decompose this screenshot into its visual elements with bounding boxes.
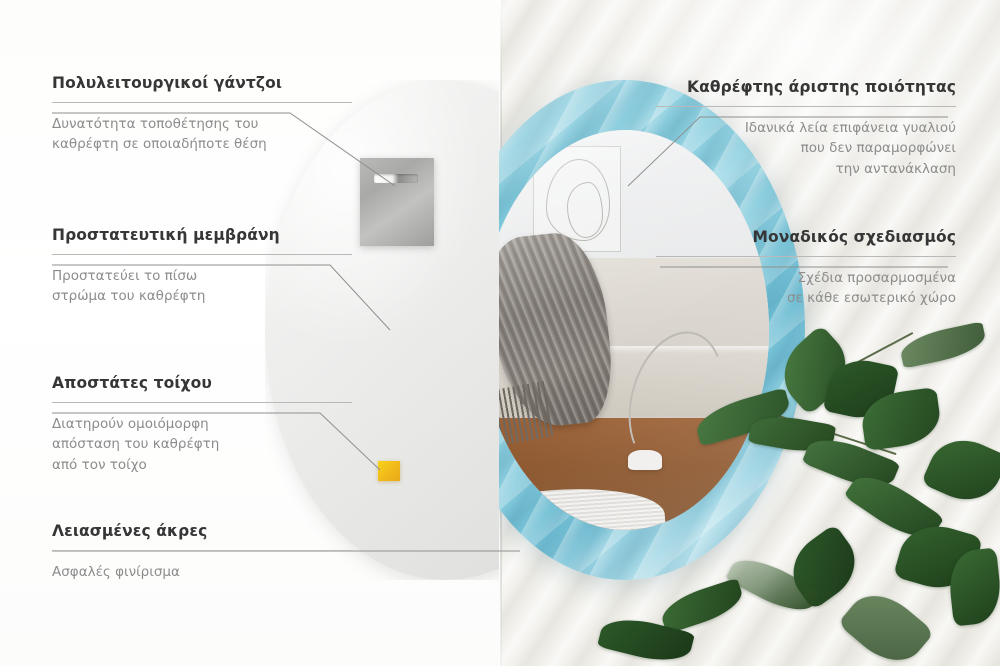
hook-keyhole-slot <box>374 174 418 183</box>
leaf <box>921 428 1000 511</box>
callout-title: Πολυλειτουργικοί γάντζοι <box>52 74 352 93</box>
callout-title: Προστατευτική μεμβράνη <box>52 226 352 245</box>
leaf <box>898 321 988 368</box>
callout-body: Δυνατότητα τοποθέτησης του καθρέφτη σε ο… <box>52 114 352 155</box>
hanging-hook-plate <box>360 158 434 246</box>
callout-body: Σχέδια προσαρμοσμένα σε κάθε εσωτερικό χ… <box>656 268 956 309</box>
callout-title: Αποστάτες τοίχου <box>52 374 352 393</box>
callout-body: Προστατεύει το πίσω στρώμα του καθρέφτη <box>52 266 352 307</box>
callout-unique-design: Μοναδικός σχεδιασμός Σχέδια προσαρμοσμέν… <box>656 228 956 309</box>
callout-rule <box>52 254 352 255</box>
wall-spacer-chip <box>378 461 400 481</box>
infographic-canvas: Πολυλειτουργικοί γάντζοι Δυνατότητα τοπο… <box>0 0 1000 666</box>
callout-smoothed-edges: Λειασμένες άκρες Ασφαλές φινίρισμα <box>52 522 352 582</box>
callout-body: Ασφαλές φινίρισμα <box>52 562 352 583</box>
callout-title: Λειασμένες άκρες <box>52 522 352 541</box>
callout-rule <box>52 102 352 103</box>
callout-rule <box>656 106 956 107</box>
callout-multifunctional-hooks: Πολυλειτουργικοί γάντζοι Δυνατότητα τοπο… <box>52 74 352 155</box>
callout-top-quality-mirror: Καθρέφτης άριστης ποιότητας Ιδανικά λεία… <box>656 78 956 179</box>
leaf <box>657 578 747 634</box>
callout-body: Διατηρούν ομοιόμορφη απόσταση του καθρέφ… <box>52 414 352 476</box>
callout-protective-membrane: Προστατευτική μεμβράνη Προστατεύει το πί… <box>52 226 352 307</box>
callout-rule <box>656 256 956 257</box>
leaf <box>837 581 934 666</box>
callout-rule <box>52 550 352 551</box>
callout-wall-spacers: Αποστάτες τοίχου Διατηρούν ομοιόμορφη απ… <box>52 374 352 475</box>
callout-title: Μοναδικός σχεδιασμός <box>656 228 956 247</box>
callout-rule <box>52 402 352 403</box>
callout-title: Καθρέφτης άριστης ποιότητας <box>656 78 956 97</box>
callout-body: Ιδανικά λεία επιφάνεια γυαλιού που δεν π… <box>656 118 956 180</box>
decorative-foliage <box>600 300 1000 666</box>
